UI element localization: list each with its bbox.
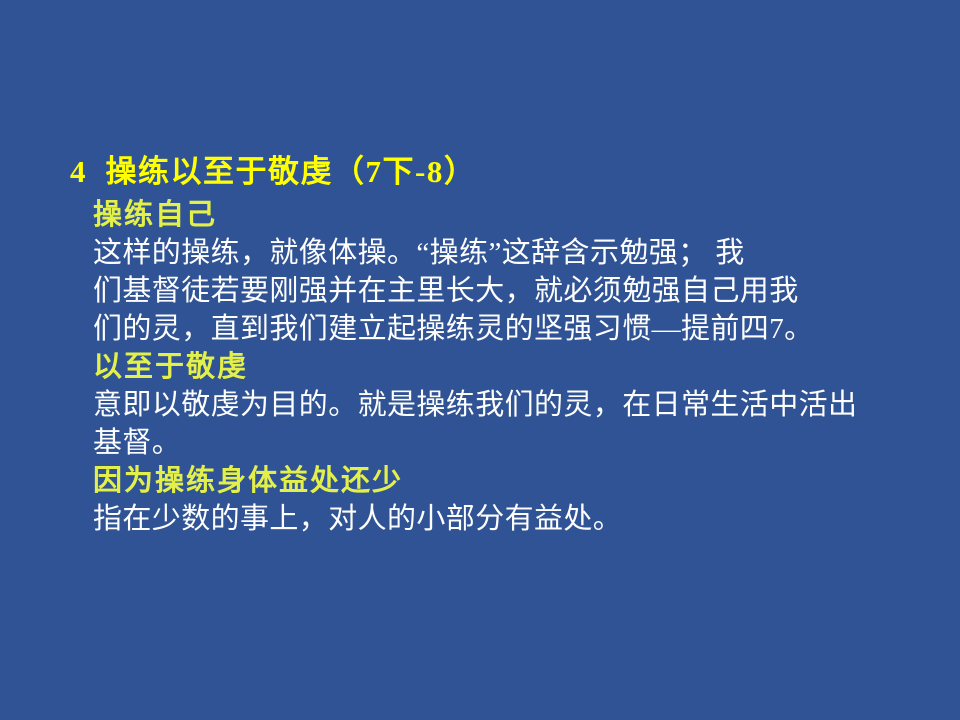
presentation-slide: 4 操练以至于敬虔（7下-8） 操练自己 这样的操练，就像体操。“操练”这辞含示… xyxy=(0,0,960,720)
body-line-2-2: 基督。 xyxy=(93,424,923,462)
section-heading-1: 操练自己 xyxy=(93,196,923,234)
slide-title: 4 操练以至于敬虔（7下-8） xyxy=(70,154,900,190)
section-heading-3: 因为操练身体益处还少 xyxy=(93,462,923,500)
body-line-1-3: 们的灵，直到我们建立起操练灵的坚强习惯—提前四7。 xyxy=(93,310,923,348)
slide-body: 操练自己 这样的操练，就像体操。“操练”这辞含示勉强； 我 们基督徒若要刚强并在… xyxy=(93,196,923,538)
body-line-3-1: 指在少数的事上，对人的小部分有益处。 xyxy=(93,500,923,538)
body-line-2-1: 意即以敬虔为目的。就是操练我们的灵，在日常生活中活出 xyxy=(93,386,923,424)
body-line-1-2: 们基督徒若要刚强并在主里长大，就必须勉强自己用我 xyxy=(93,272,923,310)
section-heading-2: 以至于敬虔 xyxy=(93,348,923,386)
body-line-1-1: 这样的操练，就像体操。“操练”这辞含示勉强； 我 xyxy=(93,234,923,272)
